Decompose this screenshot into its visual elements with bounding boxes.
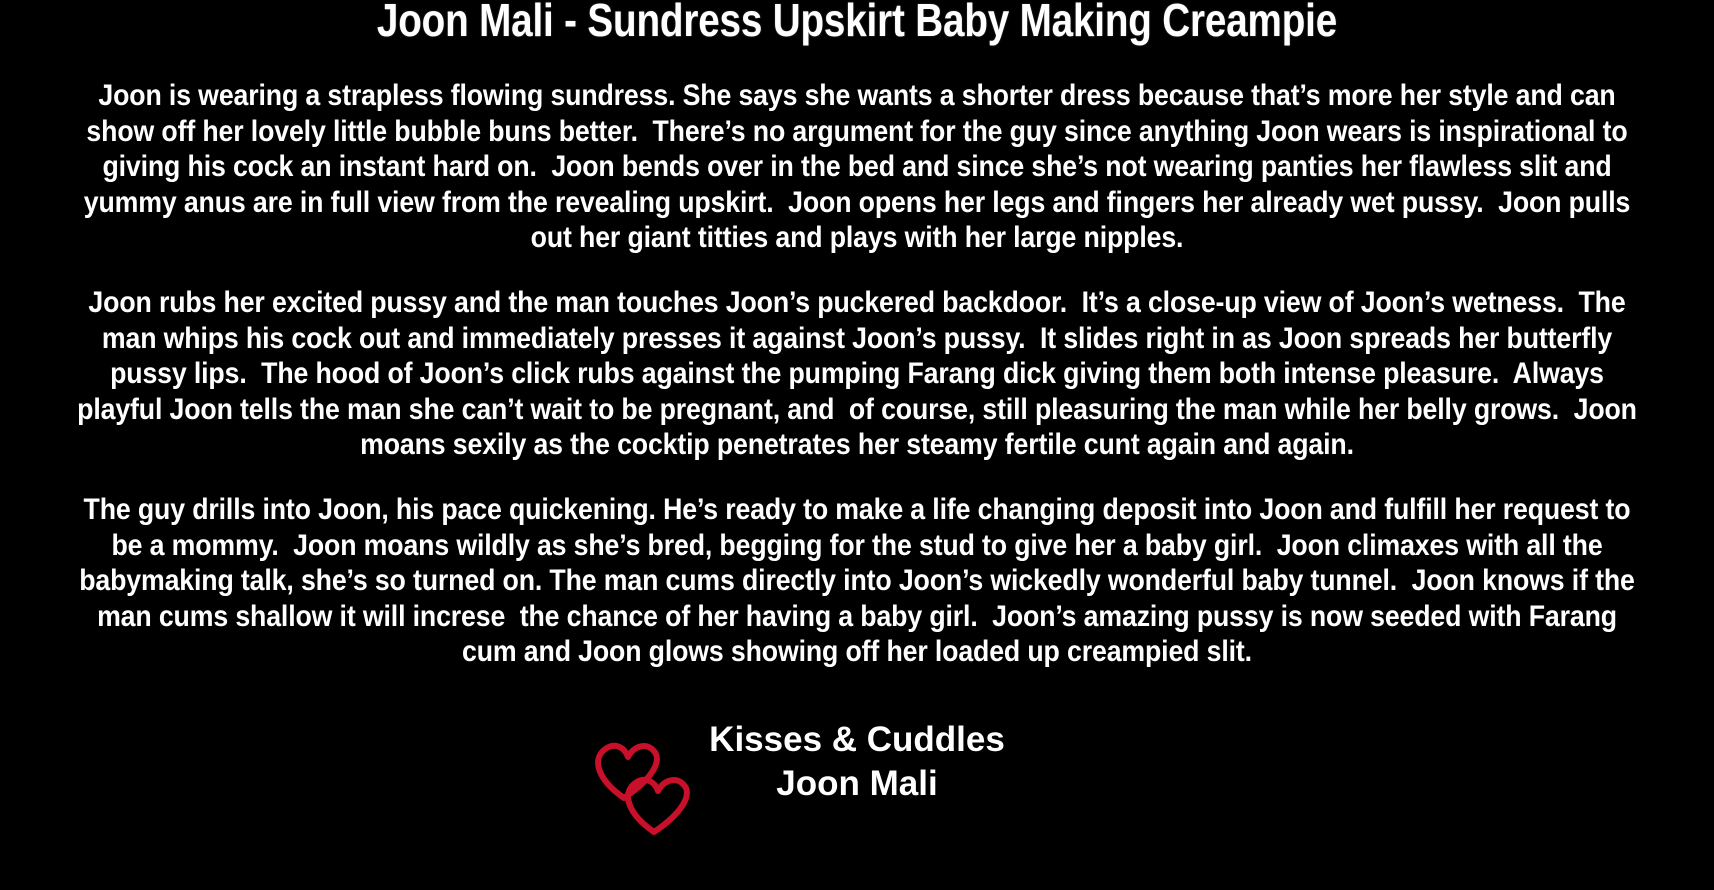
paragraph-2: Joon rubs her excited pussy and the man … bbox=[74, 285, 1640, 463]
body-text-block: Joon is wearing a strapless flowing sund… bbox=[0, 78, 1714, 670]
signature-line-kisses: Kisses & Cuddles bbox=[0, 718, 1714, 762]
signature-line-name: Joon Mali bbox=[0, 762, 1714, 806]
paragraph-1: Joon is wearing a strapless flowing sund… bbox=[74, 78, 1640, 256]
signature-block: Kisses & Cuddles Joon Mali bbox=[0, 718, 1714, 806]
page-root: Joon Mali - Sundress Upskirt Baby Making… bbox=[0, 0, 1714, 890]
paragraph-3: The guy drills into Joon, his pace quick… bbox=[74, 492, 1640, 670]
page-title: Joon Mali - Sundress Upskirt Baby Making… bbox=[137, 0, 1577, 44]
